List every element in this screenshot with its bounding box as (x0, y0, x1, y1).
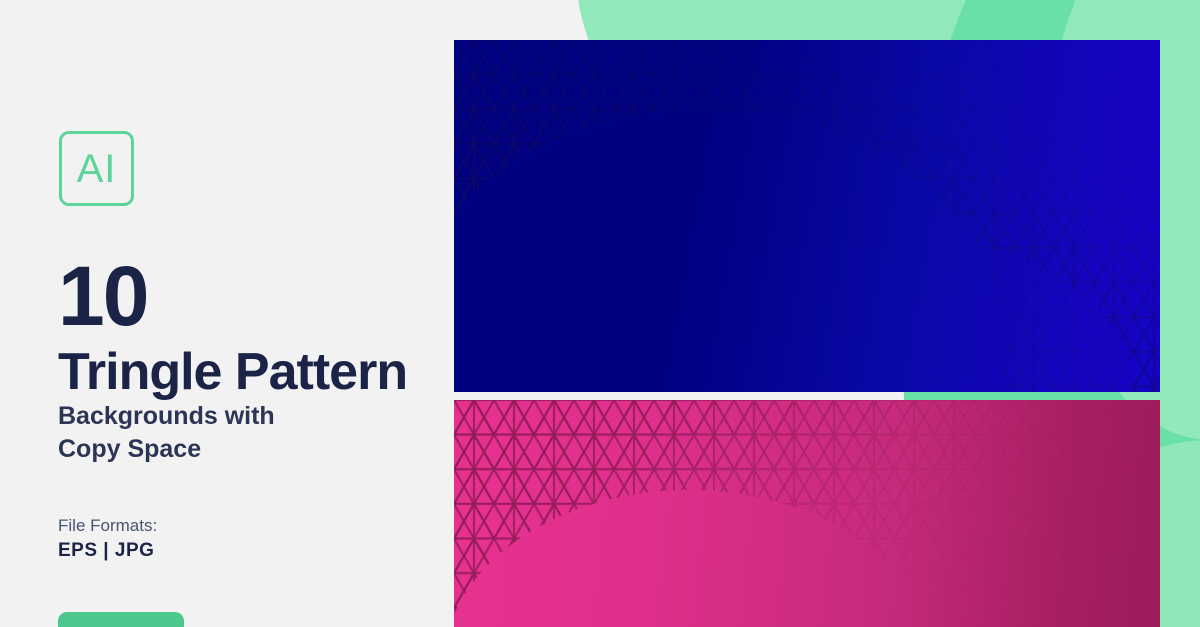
triangle-lattice-texture (454, 40, 1160, 392)
pink-triangle-preview[interactable] (454, 400, 1160, 627)
file-formats-value: EPS | JPG (58, 540, 154, 562)
blue-triangle-preview[interactable] (454, 40, 1160, 392)
page-subtitle: Backgrounds with Copy Space (58, 400, 438, 465)
file-formats-label: File Formats: (58, 516, 157, 536)
triangle-lattice-texture (454, 400, 1160, 627)
subtitle-line-2: Copy Space (58, 433, 438, 466)
page-title: Tringle Pattern (58, 345, 407, 400)
ai-badge-label: AI (77, 149, 117, 189)
info-column: AI 10 Tringle Pattern Backgrounds with C… (0, 0, 454, 627)
cta-button[interactable] (58, 612, 184, 627)
subtitle-line-1: Backgrounds with (58, 400, 438, 433)
promo-canvas: AI 10 Tringle Pattern Backgrounds with C… (0, 0, 1200, 627)
item-count: 10 (58, 258, 147, 335)
ai-file-badge: AI (59, 131, 134, 206)
